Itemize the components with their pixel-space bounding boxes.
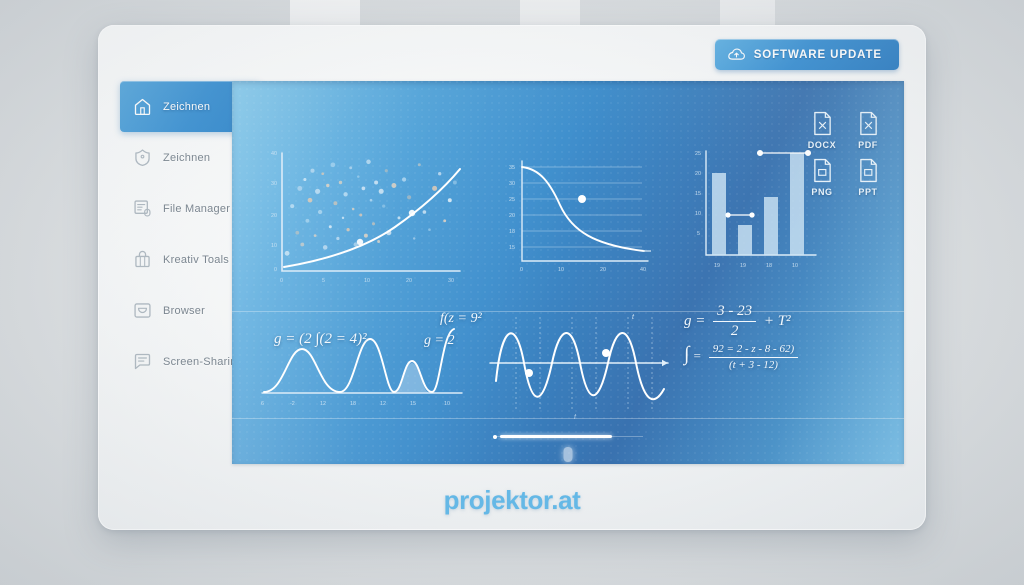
- sidebar-item-label: File Manager: [163, 203, 230, 215]
- svg-text:35: 35: [509, 165, 515, 171]
- svg-text:20: 20: [509, 213, 515, 219]
- document-docx-icon: [812, 111, 833, 136]
- cloud-upload-icon: [728, 48, 745, 61]
- svg-text:20: 20: [271, 213, 277, 219]
- scrub-handle[interactable]: [564, 447, 573, 462]
- sidebar-item-label: Screen-Sharing: [163, 356, 243, 368]
- scatter-chart: 4030 2010 0 05 1020 30: [260, 143, 470, 293]
- svg-text:18: 18: [766, 263, 772, 269]
- svg-text:10: 10: [271, 243, 277, 249]
- svg-text:40: 40: [640, 267, 646, 273]
- progress-fill: [500, 435, 612, 438]
- svg-text:t: t: [632, 314, 635, 321]
- svg-text:15: 15: [410, 401, 416, 407]
- formula-left-1: g = (2 ∫(2 = 4)²: [274, 331, 367, 348]
- progress-slider[interactable]: [493, 435, 643, 438]
- formula-right-1-lhs: g: [684, 313, 692, 329]
- svg-text:18: 18: [350, 401, 356, 407]
- formula-right-2-num: 92 = 2 - z - 8 - 62): [709, 343, 798, 358]
- chat-edit-icon: [132, 351, 153, 372]
- svg-text:10: 10: [792, 263, 798, 269]
- sine-wave-chart: t f: [482, 303, 682, 423]
- svg-text:15: 15: [509, 245, 515, 251]
- svg-text:0: 0: [280, 278, 283, 284]
- svg-text:12: 12: [380, 401, 386, 407]
- projector-device: SOFTWARE UPDATE Zeichnen Zeichnen: [98, 25, 926, 530]
- file-type-ppt[interactable]: PPT: [848, 158, 888, 197]
- formula-right-1: g = 3 - 23 2 + T²: [684, 303, 791, 341]
- shield-alert-icon: [132, 147, 153, 168]
- sidebar-item-zeichnen[interactable]: Zeichnen: [120, 132, 234, 183]
- sidebar-item-label: Zeichnen: [163, 152, 210, 164]
- formula-right-2-den: (t + 3 - 12): [725, 358, 782, 372]
- formula-left-3: g = 2: [424, 333, 454, 349]
- sidebar: Zeichnen Zeichnen File Manager Krea: [120, 81, 234, 464]
- file-type-pdf[interactable]: PDF: [848, 111, 888, 150]
- browser-window-icon: [132, 300, 153, 321]
- brand-wordmark: projektor.at: [98, 485, 926, 516]
- svg-text:30: 30: [509, 181, 515, 187]
- svg-text:f: f: [574, 414, 577, 421]
- projection-canvas: DOCX PDF PNG: [232, 81, 904, 464]
- decay-line-chart: 353025 201815 010 2040: [502, 153, 662, 283]
- formula-right-1-num: 3 - 23: [713, 303, 756, 322]
- sidebar-item-label: Zeichnen: [163, 101, 210, 113]
- sidebar-item-file-manager[interactable]: File Manager: [120, 183, 234, 234]
- svg-text:20: 20: [600, 267, 606, 273]
- svg-text:10: 10: [558, 267, 564, 273]
- formula-right-2-lhs: ∫: [684, 343, 689, 365]
- svg-text:19: 19: [740, 263, 746, 269]
- svg-text:5: 5: [322, 278, 325, 284]
- lock-bucket-icon: [132, 249, 153, 270]
- document-ppt-icon: [858, 158, 879, 183]
- software-update-label: SOFTWARE UPDATE: [754, 49, 882, 61]
- file-list-icon: [132, 198, 153, 219]
- file-type-label: PDF: [858, 140, 878, 150]
- svg-text:10: 10: [444, 401, 450, 407]
- formula-right-2: ∫ = 92 = 2 - z - 8 - 62) (t + 3 - 12): [684, 343, 802, 371]
- document-pdf-icon: [858, 111, 879, 136]
- progress-start-dot: [493, 435, 497, 439]
- software-update-button[interactable]: SOFTWARE UPDATE: [715, 39, 899, 70]
- svg-text:40: 40: [271, 151, 277, 157]
- svg-text:30: 30: [448, 278, 454, 284]
- svg-text:5: 5: [697, 231, 700, 237]
- svg-text:15: 15: [695, 191, 701, 197]
- svg-text:25: 25: [509, 197, 515, 203]
- svg-text:10: 10: [364, 278, 370, 284]
- formula-left-2: f(z = 9²: [440, 311, 482, 327]
- home-icon: [132, 96, 153, 117]
- svg-text:20: 20: [406, 278, 412, 284]
- svg-text:10: 10: [695, 211, 701, 217]
- svg-text:19: 19: [714, 263, 720, 269]
- svg-text:30: 30: [271, 181, 277, 187]
- bar-chart: 252015 105 1919 1810: [684, 143, 836, 283]
- svg-text:25: 25: [695, 151, 701, 157]
- formula-right-1-tail: + T²: [764, 313, 791, 329]
- sidebar-item-browser[interactable]: Browser: [120, 285, 234, 336]
- svg-text:0: 0: [274, 267, 277, 273]
- formula-right-1-den: 2: [727, 322, 743, 340]
- svg-text:18: 18: [509, 229, 515, 235]
- file-type-label: PPT: [858, 187, 877, 197]
- sidebar-item-screen-sharing[interactable]: Screen-Sharing: [120, 336, 234, 387]
- svg-text:-2: -2: [290, 401, 295, 407]
- sidebar-item-label: Browser: [163, 305, 205, 317]
- svg-text:20: 20: [695, 171, 701, 177]
- svg-text:6: 6: [261, 401, 264, 407]
- sidebar-item-kreativ-toals[interactable]: Kreativ Toals: [120, 234, 234, 285]
- top-bar: SOFTWARE UPDATE: [98, 25, 926, 77]
- sidebar-item-label: Kreativ Toals: [163, 254, 229, 266]
- svg-text:12: 12: [320, 401, 326, 407]
- svg-text:0: 0: [520, 267, 523, 273]
